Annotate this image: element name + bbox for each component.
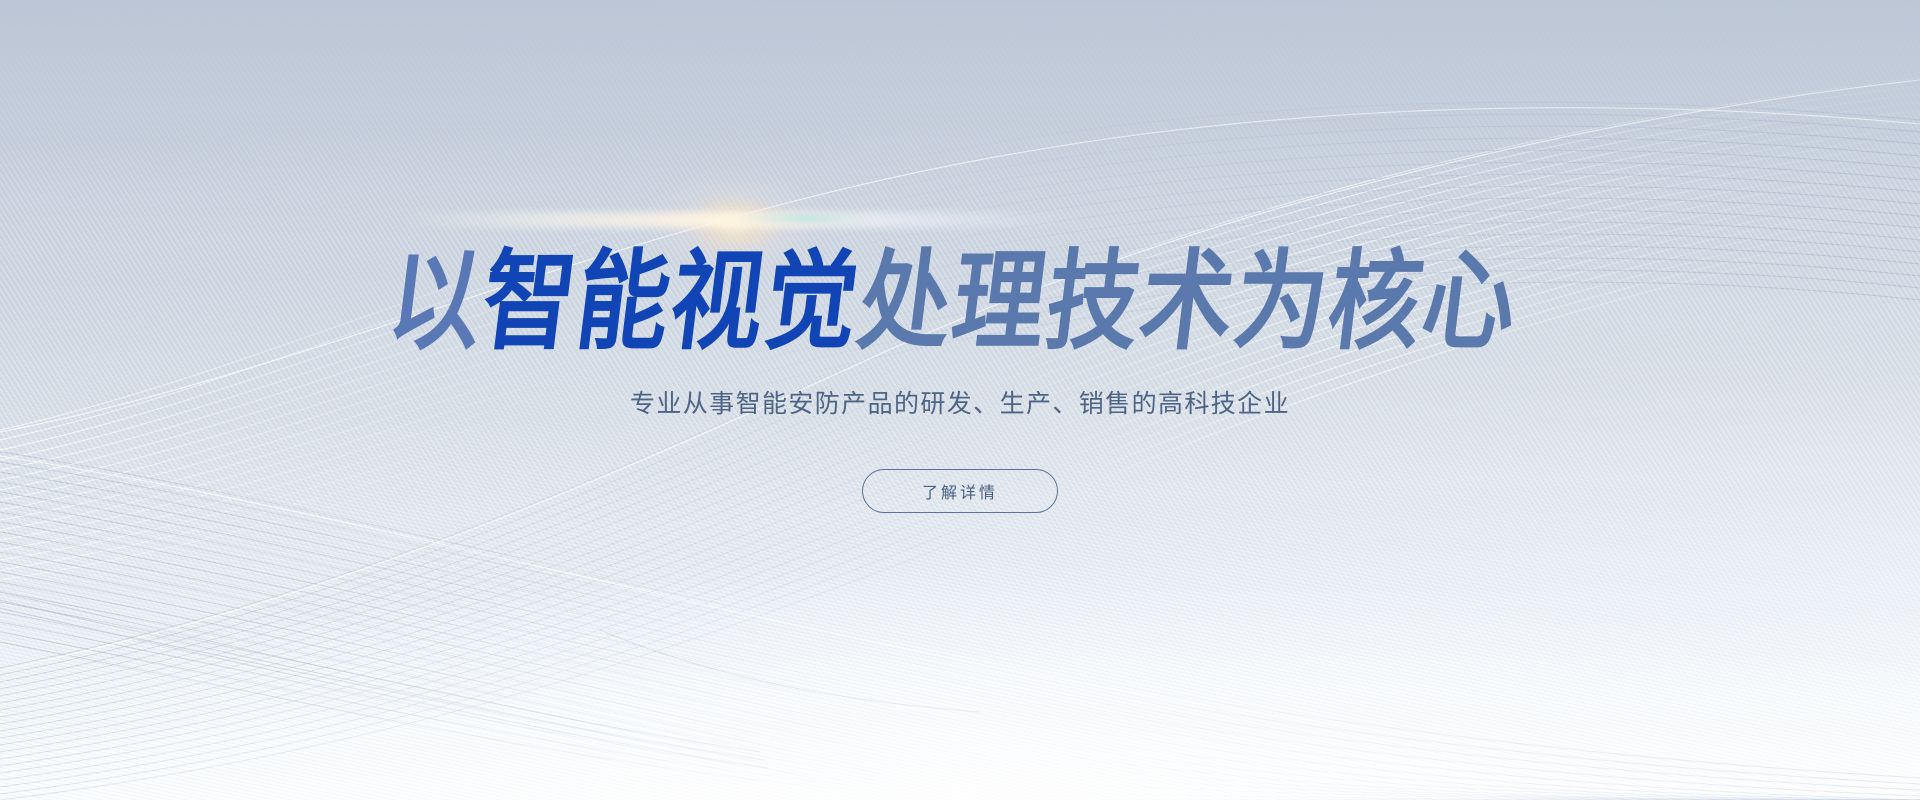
headline-segment-muted: 处理技术为核心 xyxy=(852,242,1525,362)
hero-content: 以智能视觉处理技术为核心 专业从事智能安防产品的研发、生产、销售的高科技企业 了… xyxy=(0,0,1920,800)
headline-segment-accent: 智能视觉 xyxy=(476,242,867,362)
hero-banner: 以智能视觉处理技术为核心 专业从事智能安防产品的研发、生产、销售的高科技企业 了… xyxy=(0,0,1920,800)
headline-segment-light: 以 xyxy=(382,242,491,362)
page-subtitle: 专业从事智能安防产品的研发、生产、销售的高科技企业 xyxy=(630,384,1290,420)
learn-more-button[interactable]: 了解详情 xyxy=(862,469,1058,513)
page-title: 以智能视觉处理技术为核心 xyxy=(383,248,1524,357)
